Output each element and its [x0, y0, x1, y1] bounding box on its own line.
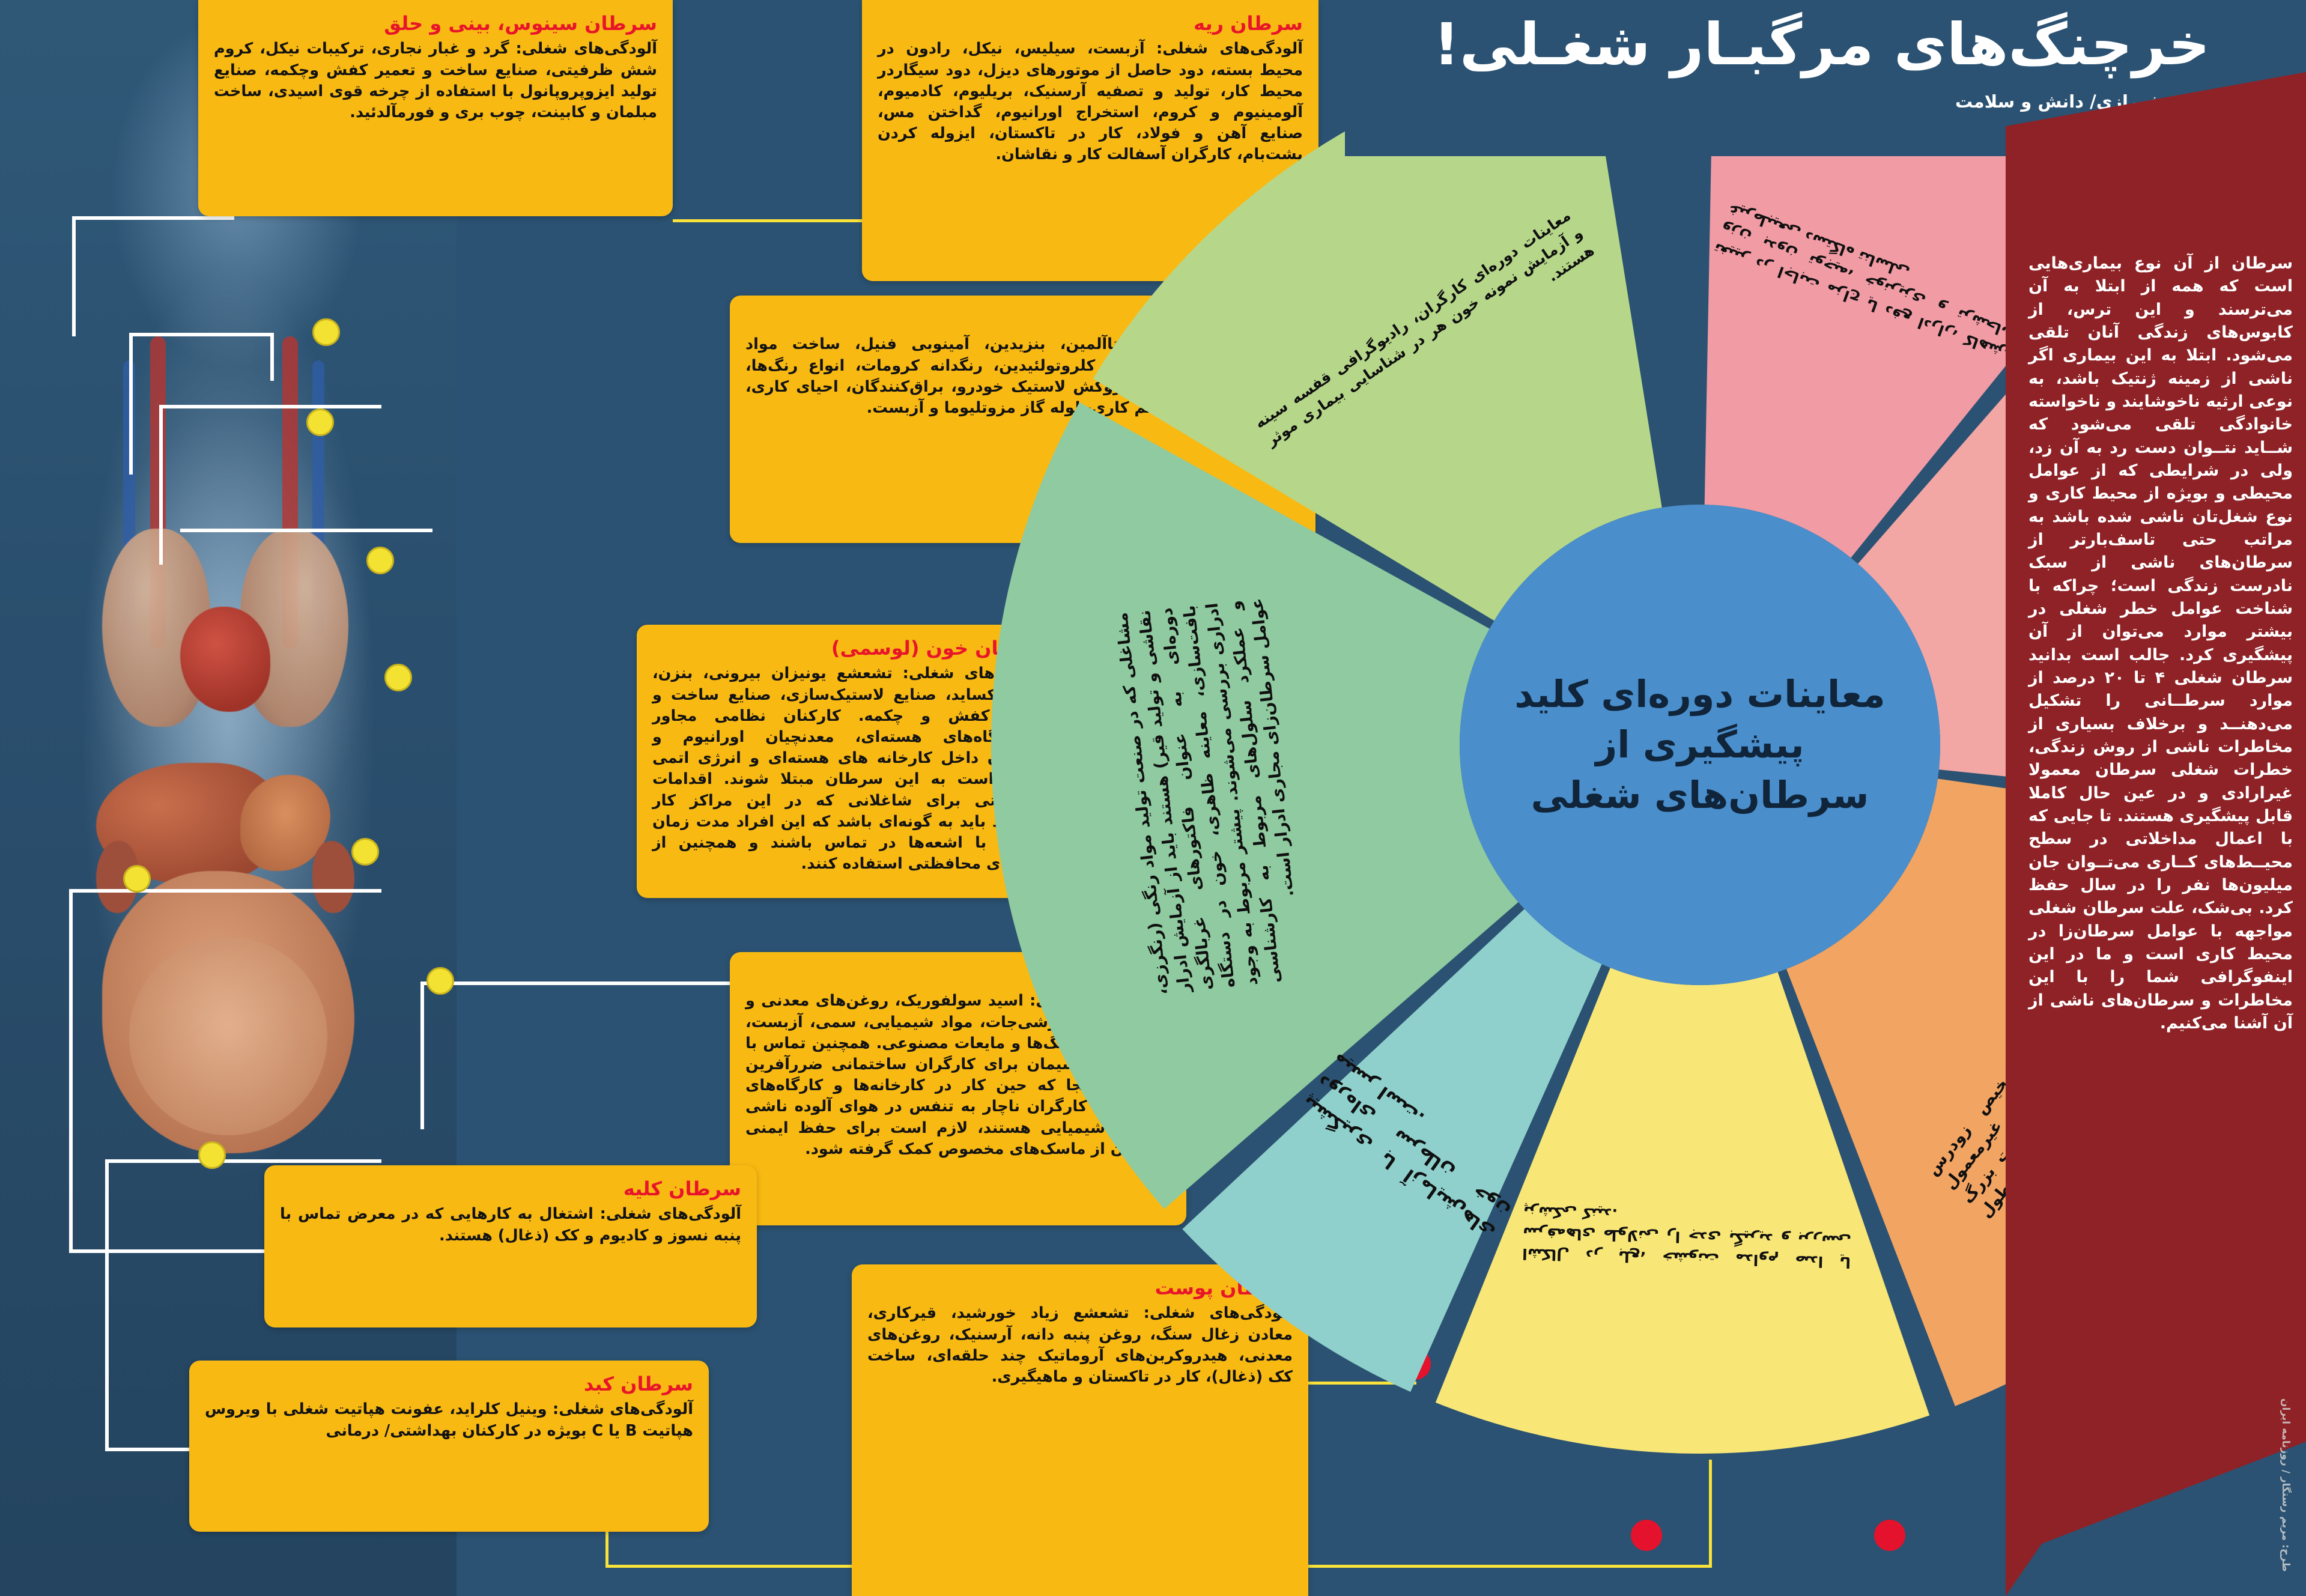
card-bladder-cancer[interactable]: سرطان مثانه آلودگی‌های شغلی: نفتاآلمین، … — [730, 296, 1315, 543]
wheel-dot-orange[interactable] — [1400, 1349, 1431, 1380]
page-title: خرچنگ‌های مرگبـار شغـلی! — [1433, 11, 2210, 78]
connector-line — [159, 405, 381, 408]
card-title: سرطان سینوس، بینی و حلق — [214, 12, 657, 35]
wheel-slice-label-bladder-urinary-symptoms: مشاغلی که در صنعت تولید مواد رنگی (رنگرز… — [1100, 596, 1320, 997]
credit-line: طرح: مریم رستگار / روزنامه ایران — [2280, 1398, 2292, 1572]
connector-line — [1709, 1460, 1712, 1568]
connector-line — [180, 529, 432, 532]
anchor-dot-lung[interactable] — [366, 547, 394, 574]
card-body: آلودگی‌های شغلی: تشعشع زیاد خورشید، قیرک… — [867, 1303, 1293, 1388]
wheel-slice-label-blood-test-prevention: پیشگیری با آزمایش‌های دوره‌ای سرطان خون … — [1267, 1006, 1561, 1287]
card-liver-cancer[interactable]: سرطان کبد آلودگی‌های شغلی: وینیل کلراید،… — [189, 1361, 709, 1532]
card-title: سرطان حنجره — [745, 964, 1171, 987]
card-title: سرطان پوست — [867, 1276, 1293, 1299]
card-kidney-cancer[interactable]: سرطان کلیه آلودگی‌های شغلی: اشتغال به کا… — [264, 1165, 757, 1327]
card-body: آلودگی‌های شغلی: نفتاآلمین، بنزیدین، آمی… — [745, 334, 1300, 419]
human-body-illustration — [0, 0, 457, 1596]
small-intestine-organ — [129, 937, 327, 1135]
card-title: سرطان ریه — [878, 12, 1303, 35]
card-lung-cancer[interactable]: سرطان ریه آلودگی‌های شغلی: آزبست، سیلیس،… — [862, 0, 1318, 281]
wheel-dot-rose[interactable] — [1874, 1520, 1905, 1551]
anchor-dot-larynx[interactable] — [306, 408, 334, 436]
card-body: آلودگی‌های شغلی: اشتغال به کارهایی که در… — [280, 1204, 741, 1246]
anchor-dot-kidney[interactable] — [123, 865, 151, 893]
card-body: آلودگی‌های شغلی: گرد و غبار نجاری، ترکیب… — [214, 38, 657, 123]
card-body: آلودگی‌های شغلی: وینیل کلراید، عفونت هپا… — [205, 1399, 693, 1441]
card-blood-cancer-leukemia[interactable]: سرطان خون (لوسمی) آلودگی‌های شغلی: تشعشع… — [637, 625, 1063, 898]
connector-line — [605, 1532, 608, 1568]
intro-panel-text: سرطان از آن نوع بیماری‌هایی است که همه ا… — [2028, 252, 2293, 1035]
kidney-right-organ — [312, 841, 354, 913]
card-title: سرطان کبد — [205, 1373, 693, 1395]
connector-line — [420, 982, 733, 985]
card-body: آلودگی‌های شغلی: تشعشع یونیزان بیرونی، ب… — [652, 663, 1048, 875]
connector-line — [420, 985, 424, 1129]
anchor-dot-liver[interactable] — [351, 838, 379, 866]
anchor-dot-bladder[interactable] — [426, 967, 454, 995]
wheel-hub: معاینات دوره‌ای کلید پیشگیری از سرطان‌ها… — [1460, 505, 1940, 985]
wheel-slice-label-swallowing-hoarseness: اشکال در بلع، خشونت مداوم صدا یا سرفه‌ها… — [1520, 1143, 1854, 1332]
card-larynx-cancer[interactable]: سرطان حنجره آلودگی‌های شغلی: اسید سولفور… — [730, 952, 1186, 1225]
card-body: آلودگی‌های شغلی: آزبست، سیلیس، نیکل، راد… — [878, 38, 1303, 165]
connector-line — [129, 333, 273, 336]
connector-line — [1308, 1382, 1416, 1385]
wheel-hub-label: معاینات دوره‌ای کلید پیشگیری از سرطان‌ها… — [1460, 669, 1940, 820]
connector-line — [159, 408, 163, 565]
connector-line — [673, 219, 871, 222]
card-title: سرطان کلیه — [280, 1177, 741, 1200]
anchor-dot-blood[interactable] — [384, 664, 412, 691]
card-skin-cancer[interactable]: سرطان پوست آلودگی‌های شغلی: تشعشع زیاد خ… — [852, 1264, 1308, 1596]
connector-line — [72, 216, 234, 220]
anchor-dot-skin[interactable] — [198, 1141, 226, 1169]
connector-line — [72, 216, 76, 336]
wheel-slice-label-bowel-bladder-change: تغییر در اجابت مزاج یا دفع ادرار، کاهش و… — [1691, 144, 2046, 420]
anchor-dot-sinus[interactable] — [312, 318, 340, 346]
wheel-dot-pink[interactable] — [1631, 1520, 1662, 1551]
connector-line — [69, 889, 73, 1249]
card-body: آلودگی‌های شغلی: اسید سولفوریک، روغن‌های… — [745, 991, 1171, 1160]
card-title: سرطان مثانه — [745, 308, 1300, 330]
connector-line — [129, 336, 133, 475]
card-sinus-nose-throat-cancer[interactable]: سرطان سینوس، بینی و حلق آلودگی‌های شغلی:… — [198, 0, 673, 216]
connector-line — [69, 889, 381, 893]
connector-line — [105, 1159, 109, 1448]
connector-line — [270, 333, 274, 381]
connector-line — [105, 1159, 381, 1163]
card-title: سرطان خون (لوسمی) — [652, 637, 1048, 660]
infographic-canvas: سرطان سینوس، بینی و حلق آلودگی‌های شغلی:… — [0, 0, 2306, 1596]
connector-line — [69, 1249, 267, 1253]
